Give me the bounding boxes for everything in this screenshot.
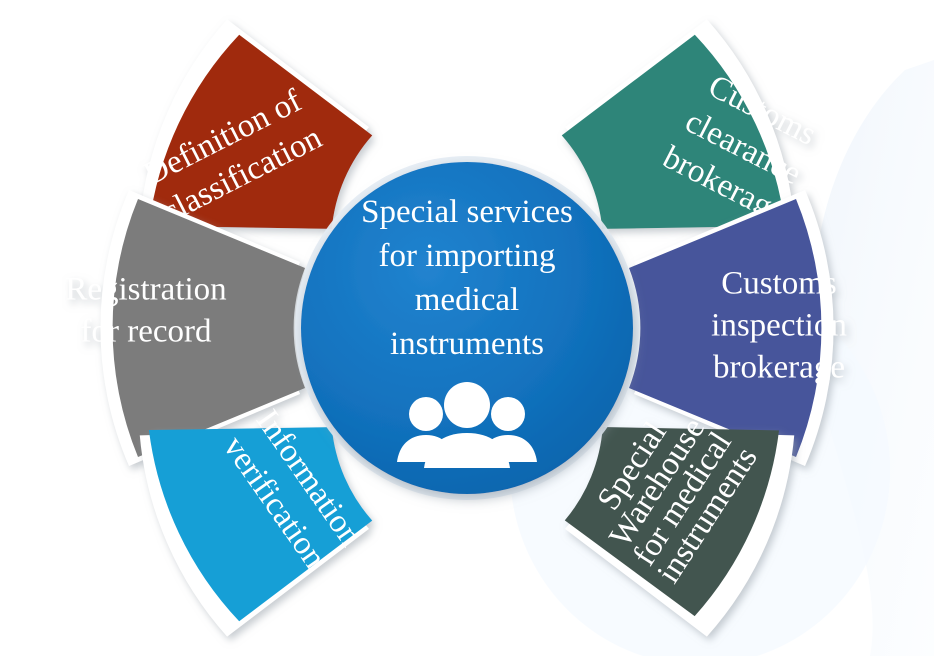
petal-label-line: for record — [80, 314, 212, 350]
petal-label-line: Customs — [721, 266, 837, 302]
hub-title-line: medical — [415, 282, 519, 318]
petal-label-group: Customs inspection brokerage — [711, 266, 847, 386]
petal-label-line: brokerage — [713, 350, 845, 386]
hub-title-line: instruments — [390, 326, 544, 362]
petal-label-line: inspection — [711, 308, 847, 344]
hub-title-line: for importing — [379, 238, 556, 274]
center-hub[interactable]: Special services for importing medical i… — [295, 156, 639, 500]
petal-label-line: Registration — [65, 272, 226, 308]
hub-title-line: Special services — [361, 194, 573, 230]
radial-petal-diagram: Definition of classification Registratio… — [0, 0, 934, 656]
diagram-canvas: Definition of classification Registratio… — [0, 0, 934, 656]
